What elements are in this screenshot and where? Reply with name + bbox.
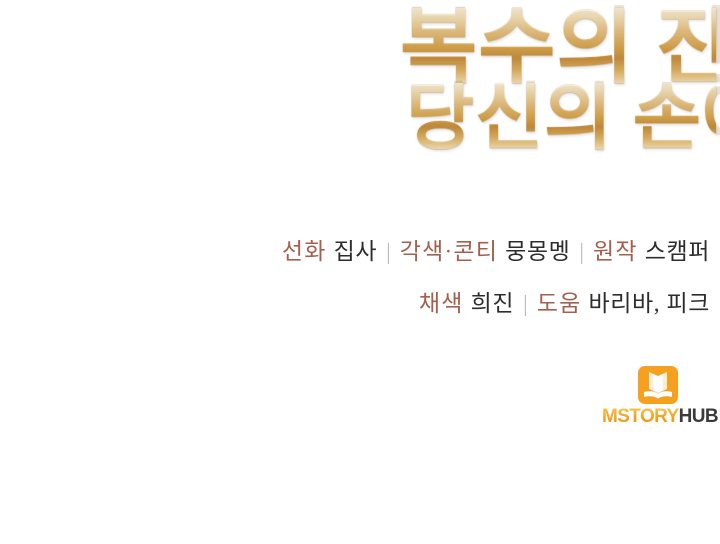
webtoon-credits-page: 복수의 잔은 당신의 손에 선화집사|각색·콘티뭉몽멩|원작스캠퍼 채색희진|도… bbox=[0, 0, 720, 544]
credit-separator: | bbox=[579, 239, 584, 264]
credit-line-2: 채색희진|도움바리바, 피크 bbox=[0, 292, 710, 315]
mstoryhub-book-m-icon bbox=[638, 366, 678, 404]
credit-name-adaptation: 뭉몽멩 bbox=[505, 239, 570, 264]
credit-name-assist: 바리바, 피크 bbox=[589, 291, 711, 316]
credit-line-1: 선화집사|각색·콘티뭉몽멩|원작스캠퍼 bbox=[0, 240, 710, 263]
credit-name-original: 스캠퍼 bbox=[645, 239, 710, 264]
credit-separator: | bbox=[523, 291, 528, 316]
credit-name-coloring: 희진 bbox=[471, 291, 515, 316]
credit-role-coloring: 채색 bbox=[419, 291, 464, 316]
mstoryhub-logo: MSTORYHUB bbox=[602, 366, 714, 426]
credit-role-adaptation: 각색·콘티 bbox=[400, 239, 498, 264]
series-title-logo: 복수의 잔은 당신의 손에 bbox=[396, 8, 716, 154]
credit-role-assist: 도움 bbox=[537, 291, 582, 316]
brand-word-mstory: MSTORY bbox=[602, 406, 679, 427]
credit-separator: | bbox=[386, 239, 391, 264]
credit-role-sunhwa: 선화 bbox=[282, 239, 327, 264]
brand-word-hub: HUB bbox=[679, 406, 718, 427]
credits-block: 선화집사|각색·콘티뭉몽멩|원작스캠퍼 채색희진|도움바리바, 피크 bbox=[0, 240, 710, 315]
credit-role-original: 원작 bbox=[593, 239, 638, 264]
mstoryhub-wordmark: MSTORYHUB bbox=[602, 407, 714, 426]
series-title-line-2: 당신의 손에 bbox=[406, 83, 716, 154]
credit-name-sunhwa: 집사 bbox=[334, 239, 378, 264]
